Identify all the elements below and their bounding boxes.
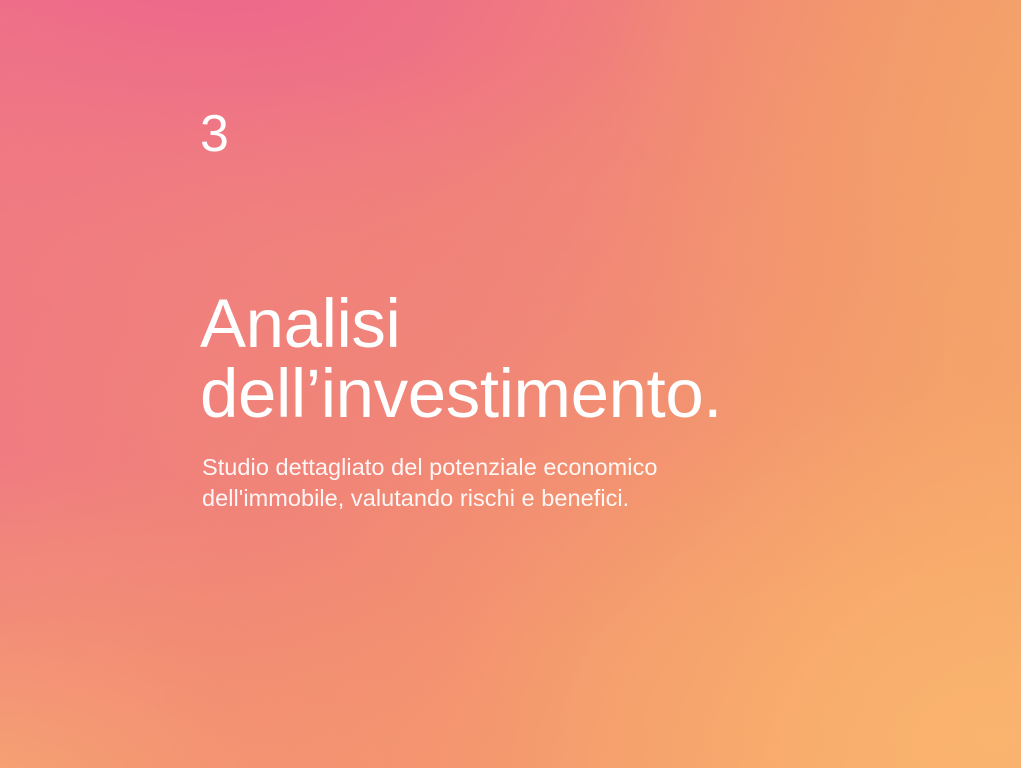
slide-subtitle: Studio dettagliato del potenziale econom… bbox=[202, 452, 658, 514]
section-number: 3 bbox=[200, 108, 229, 160]
slide-content: 3 Analisi dell’investimento. Studio dett… bbox=[200, 0, 1021, 768]
slide-canvas: 3 Analisi dell’investimento. Studio dett… bbox=[0, 0, 1021, 768]
slide-title: Analisi dell’investimento. bbox=[200, 289, 722, 429]
